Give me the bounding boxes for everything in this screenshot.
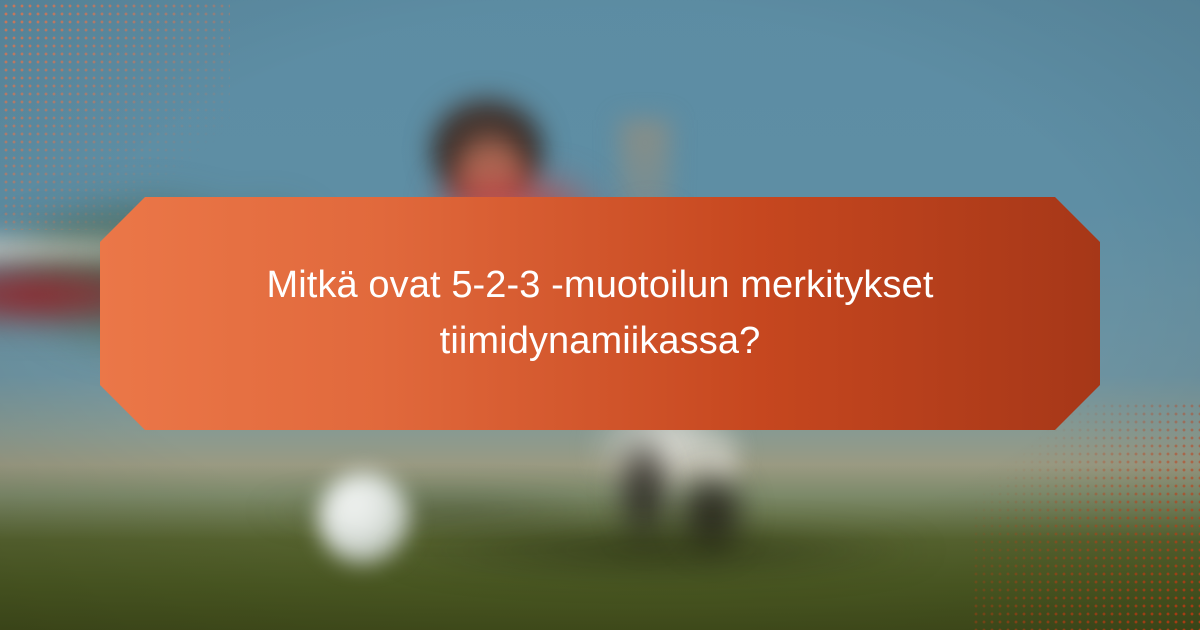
page-title: Mitkä ovat 5-2-3 -muotoilun merkitykset … [250,258,950,368]
social-share-card: Mitkä ovat 5-2-3 -muotoilun merkitykset … [0,0,1200,630]
title-banner: Mitkä ovat 5-2-3 -muotoilun merkitykset … [100,197,1100,430]
